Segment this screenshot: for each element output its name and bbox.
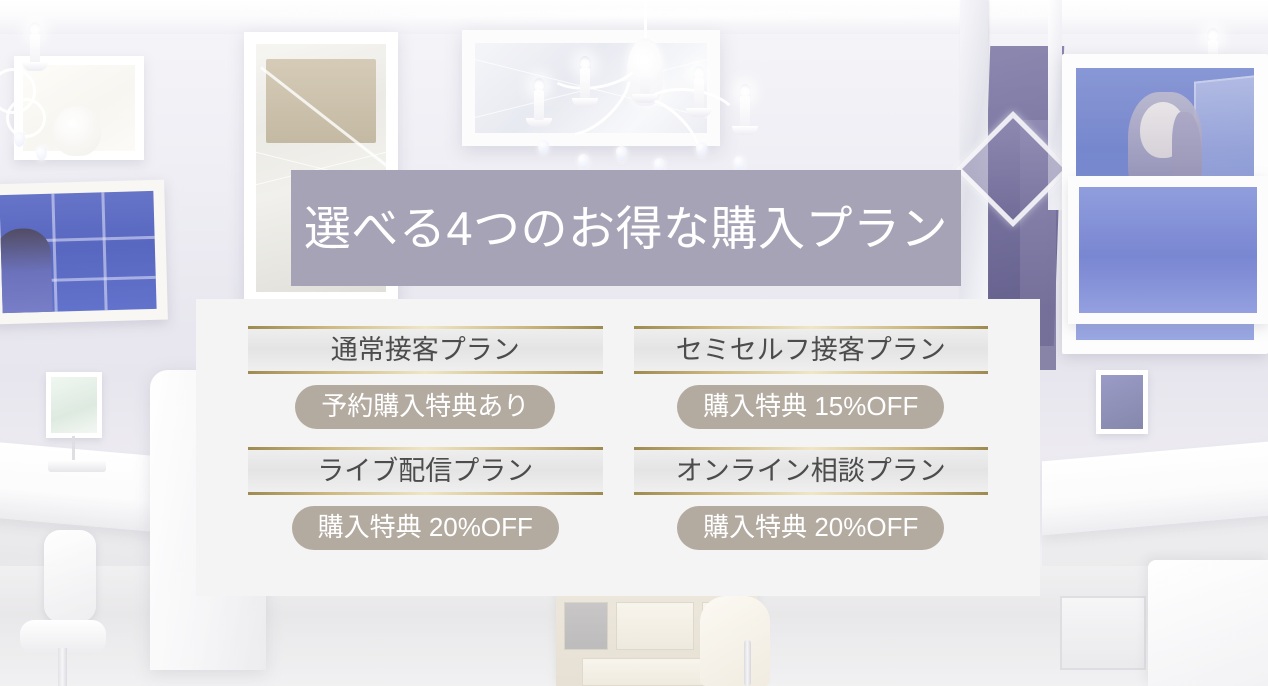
plan-card-4[interactable]: オンライン相談プラン 購入特典 20%OFF (634, 447, 989, 550)
stool-pole-left (58, 648, 67, 686)
crystal-drop (696, 142, 707, 157)
chandelier-candle (580, 68, 590, 98)
crystal-drop (616, 146, 627, 161)
hero-title: 選べる4つのお得な購入プラン (304, 205, 948, 252)
stool-backrest-left (44, 530, 96, 622)
plan-card-3[interactable]: ライブ配信プラン 購入特典 20%OFF (248, 447, 603, 550)
plan-benefit-badge: 購入特典 20%OFF (677, 506, 944, 550)
storage-bin-right (1060, 596, 1146, 670)
plan-benefit-badge: 購入特典 20%OFF (292, 506, 559, 550)
salon-chair-right (1148, 560, 1268, 686)
crystal-drop (734, 156, 745, 171)
chandelier-candle (640, 64, 650, 94)
window-blind-reflection (266, 59, 375, 143)
sconce-scroll (6, 98, 46, 138)
plan-name-bar: 通常接客プラン (248, 326, 603, 374)
framed-picture-left (0, 180, 168, 325)
sconce-cup (22, 62, 48, 71)
table-mirror-base (48, 460, 106, 472)
wall-sconce-left (0, 24, 104, 174)
plan-name-bar: ライブ配信プラン (248, 447, 603, 495)
plan-benefit-badge: 購入特典 15%OFF (677, 385, 944, 429)
shelf-compartment (616, 602, 694, 650)
table-mirror-right (1096, 370, 1148, 434)
plan-name-label: オンライン相談プラン (676, 458, 946, 485)
picture-pane (0, 191, 157, 313)
shelf-compartment (564, 602, 608, 650)
mirror-pane (1101, 375, 1143, 429)
hero-title-band: 選べる4つのお得な購入プラン (291, 170, 961, 286)
candle-flame (29, 22, 41, 38)
sconce-candle (30, 34, 40, 64)
table-mirror-left (46, 372, 102, 438)
plan-name-label: 通常接客プラン (331, 337, 520, 364)
candle-flame (579, 56, 591, 72)
crystal-drop (14, 132, 25, 147)
person-silhouette (0, 228, 53, 313)
chandelier-candle (694, 78, 704, 108)
plan-name-bar: オンライン相談プラン (634, 447, 989, 495)
plans-panel: 通常接客プラン 予約購入特典あり セミセルフ接客プラン 購入特典 15%OFF … (196, 299, 1040, 596)
plan-name-label: セミセルフ接客プラン (676, 337, 946, 364)
chair-leg-center (744, 640, 751, 686)
plan-name-bar: セミセルフ接客プラン (634, 326, 989, 374)
picture-pane (1079, 187, 1257, 313)
plan-benefit-badge: 予約購入特典あり (295, 385, 555, 429)
salon-chair-center (700, 596, 770, 686)
framed-picture-right-lower (1068, 176, 1268, 324)
crystal-drop (36, 146, 47, 161)
plan-card-2[interactable]: セミセルフ接客プラン 購入特典 15%OFF (634, 326, 989, 429)
crystal-drop (538, 140, 549, 155)
chandelier-candle (534, 90, 544, 120)
candle-flame (693, 66, 705, 82)
mirror-pane (51, 377, 97, 433)
chandelier-cup (732, 126, 758, 135)
window-mullion (101, 192, 107, 310)
table-mirror-stand (72, 436, 75, 462)
plan-card-1[interactable]: 通常接客プラン 予約購入特典あり (248, 326, 603, 429)
candle-flame (639, 52, 651, 68)
chandelier-candle (740, 96, 750, 126)
candle-flame (1207, 28, 1219, 44)
candle-flame (533, 78, 545, 94)
plans-grid: 通常接客プラン 予約購入特典あり セミセルフ接客プラン 購入特典 15%OFF … (248, 326, 988, 550)
plan-name-label: ライブ配信プラン (317, 458, 533, 485)
crystal-drop (578, 154, 589, 169)
hero-banner: 選べる4つのお得な購入プラン 通常接客プラン 予約購入特典あり セミセルフ接客プ… (0, 0, 1268, 686)
candle-flame (739, 84, 751, 100)
chandelier (520, 0, 770, 180)
window-mullion (52, 194, 58, 312)
